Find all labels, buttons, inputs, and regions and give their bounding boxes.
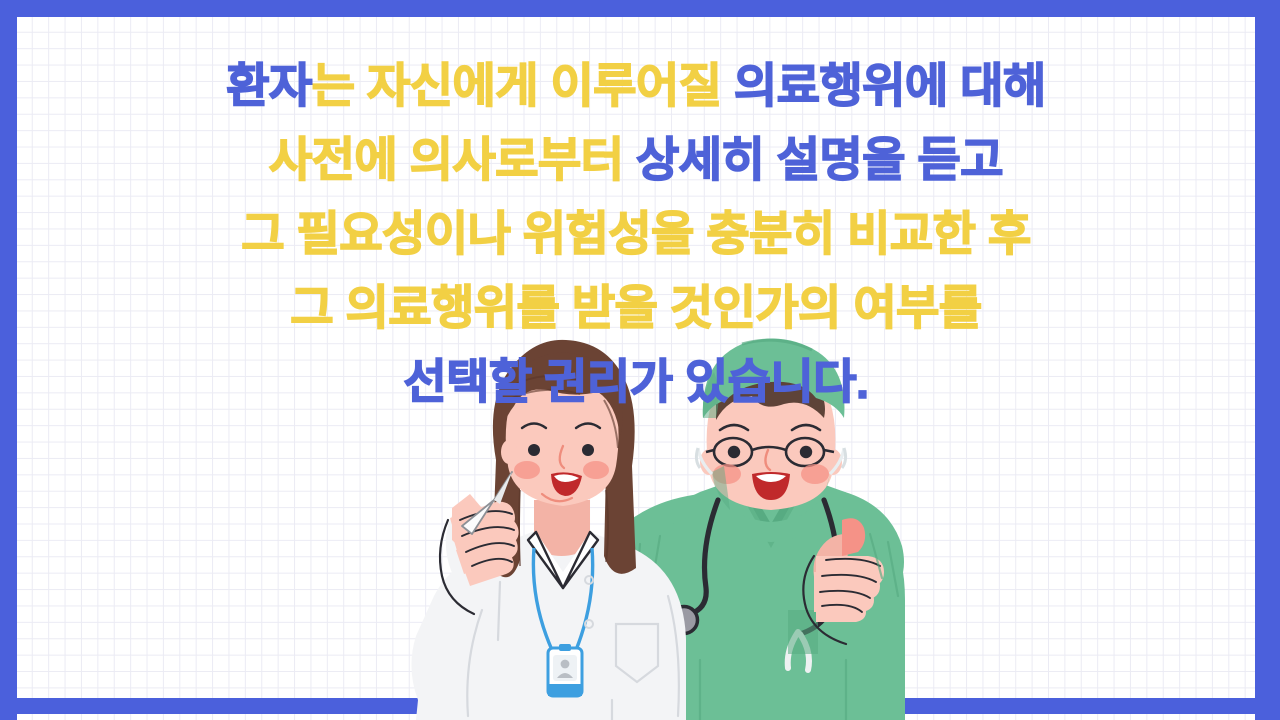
- frame-bar-left: [0, 0, 17, 720]
- poster-card: 환자는 자신에게 이루어질 의료행위에 대해 사전에 의사로부터 상세히 설명을…: [0, 0, 1280, 720]
- grid-paper-background: [0, 0, 1280, 720]
- frame-bar-top: [0, 0, 1280, 17]
- frame-bar-bottom: [0, 698, 1280, 714]
- frame-bar-right: [1255, 0, 1280, 720]
